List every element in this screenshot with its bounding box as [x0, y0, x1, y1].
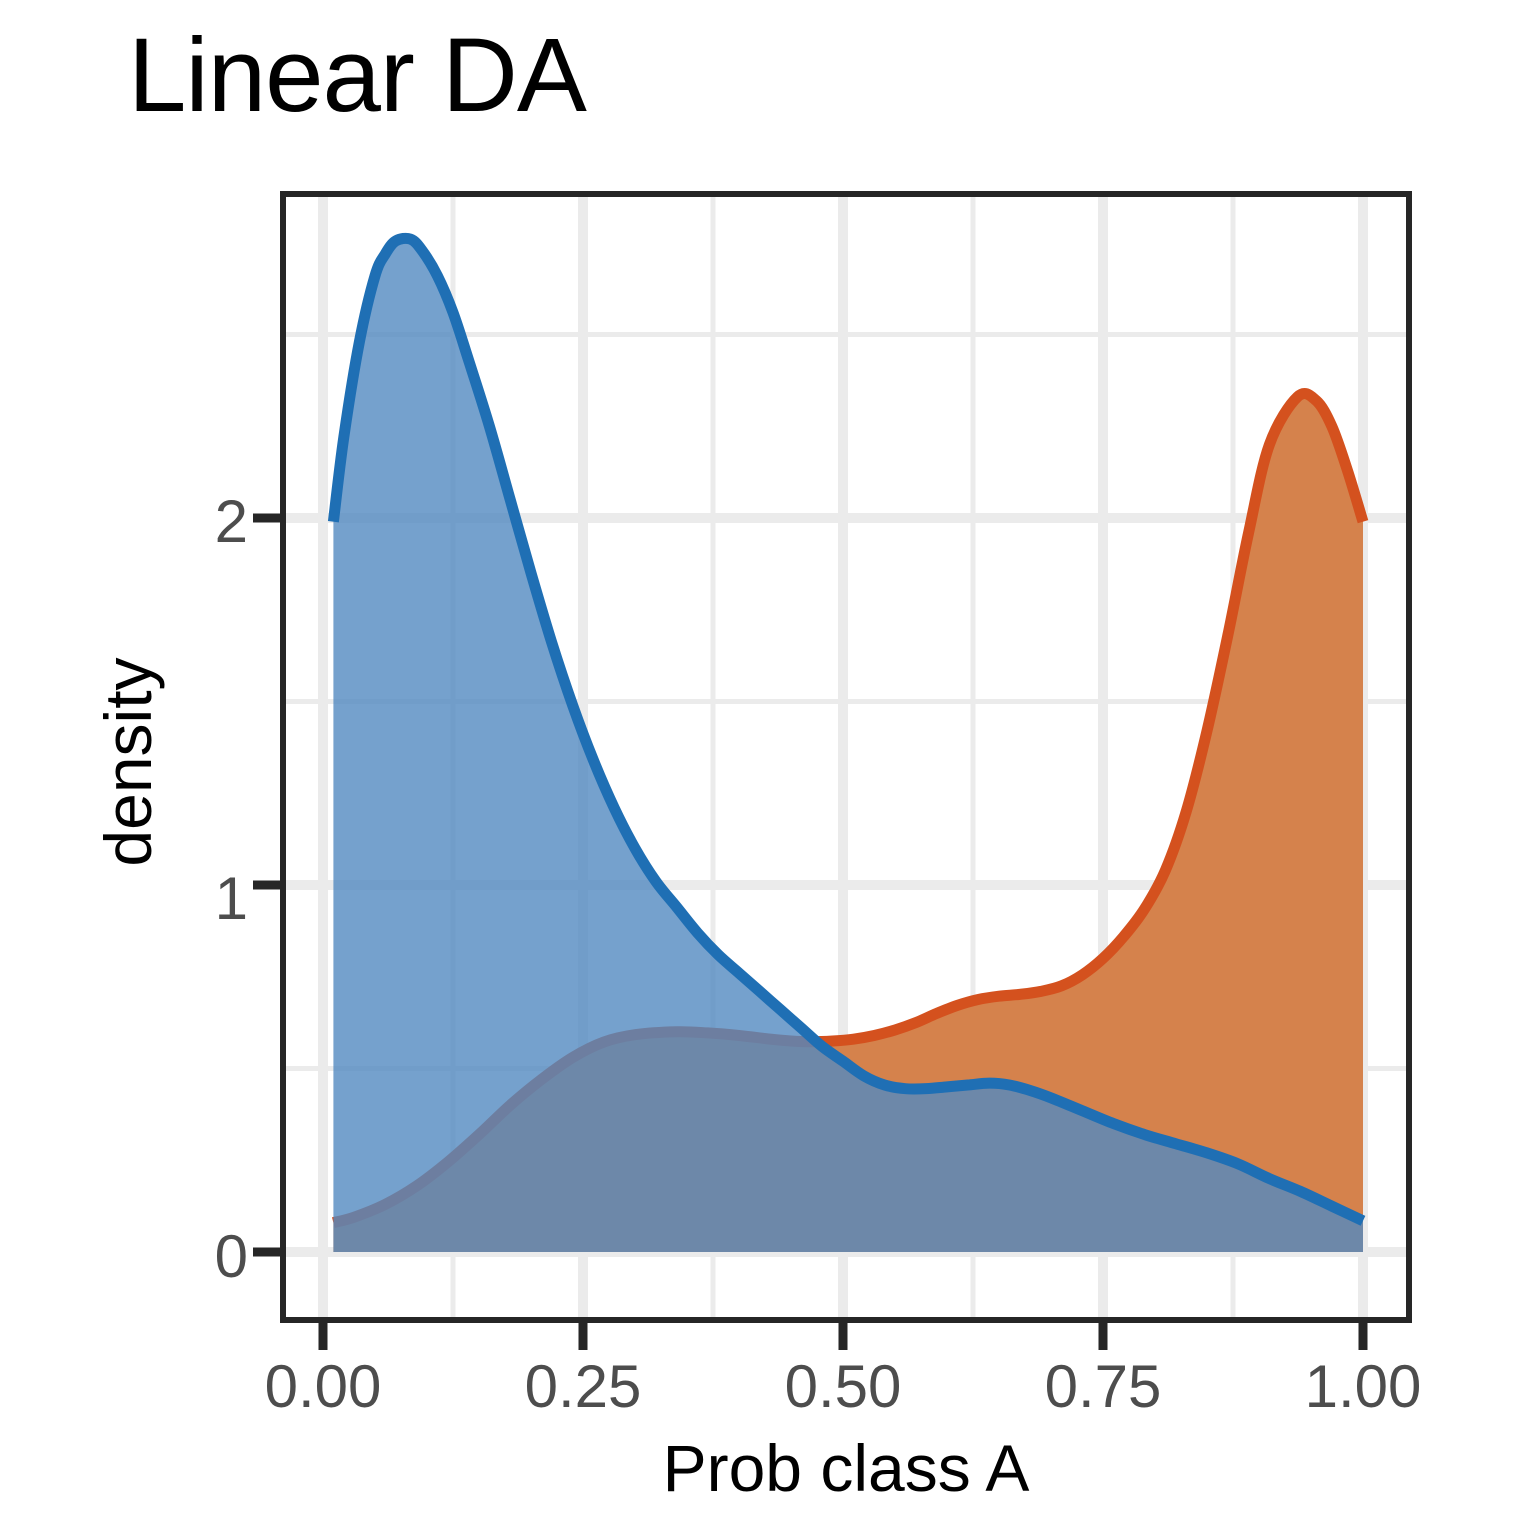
chart-canvas: [0, 0, 1536, 1536]
density-plot: Linear DA density Prob class A 2 1 0 0.0…: [0, 0, 1536, 1536]
